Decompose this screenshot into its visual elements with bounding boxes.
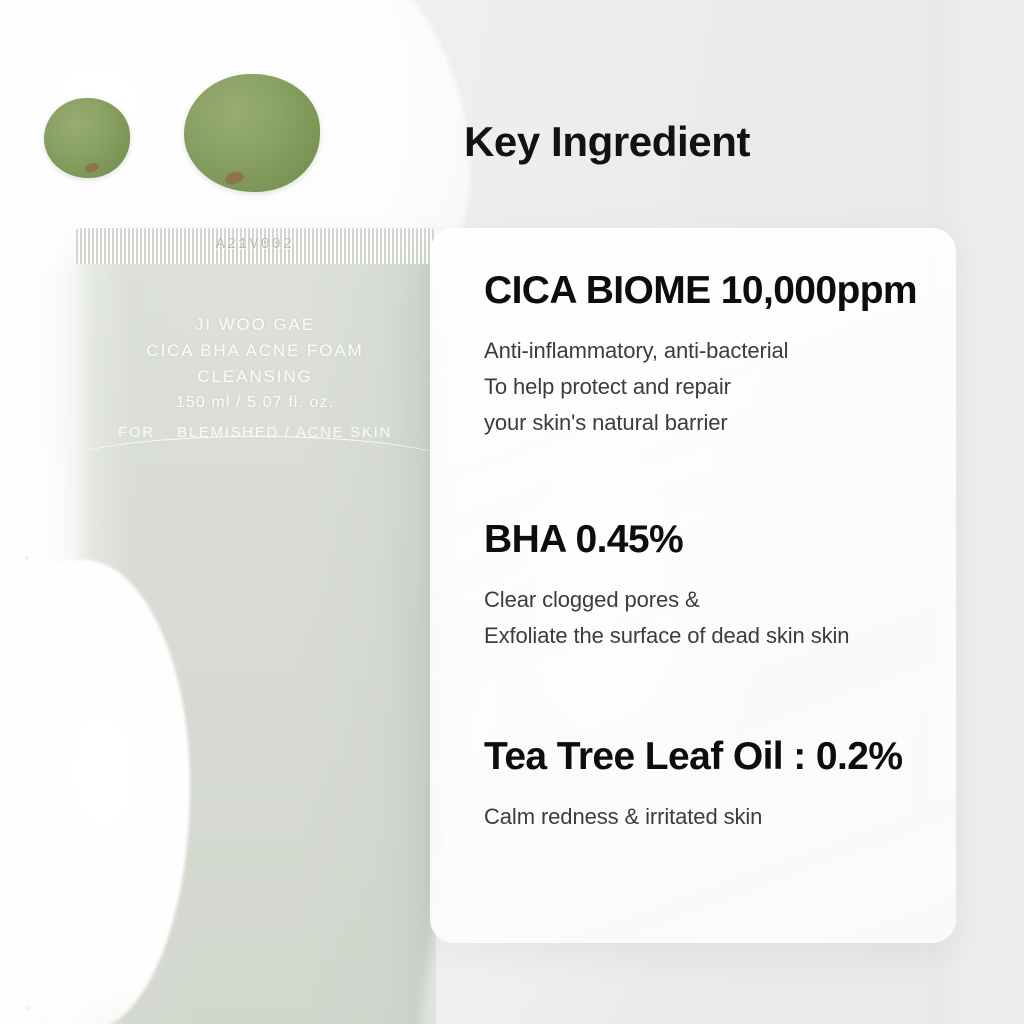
ingredient-title: CICA BIOME 10,000ppm [484, 270, 906, 313]
product-key-ingredient-graphic: A21V002 JI WOO GAE CICA BHA ACNE FOAM CL… [0, 0, 1024, 1024]
ingredient-block-bha: BHA 0.45% Clear clogged pores & Exfoliat… [484, 519, 906, 654]
tube-product-name-line1: CICA BHA ACNE FOAM [74, 338, 436, 364]
tube-for-label: FOR [118, 424, 155, 441]
tube-batch-code: A21V002 [74, 236, 436, 253]
section-spacer [484, 441, 906, 519]
ingredient-description: Calm redness & irritated skin [484, 799, 906, 835]
ingredient-title: BHA 0.45% [484, 519, 906, 562]
page-title: Key Ingredient [0, 118, 1024, 166]
key-ingredient-card-content: CICA BIOME 10,000ppm Anti-inflammatory, … [430, 228, 956, 943]
ingredient-block-cica-biome: CICA BIOME 10,000ppm Anti-inflammatory, … [484, 270, 906, 441]
ingredient-description: Anti-inflammatory, anti-bacterial To hel… [484, 333, 906, 441]
tube-printed-label: JI WOO GAE CICA BHA ACNE FOAM CLEANSING … [74, 312, 436, 416]
ingredient-description-line: your skin's natural barrier [484, 405, 906, 441]
ingredient-block-tea-tree: Tea Tree Leaf Oil : 0.2% Calm redness & … [484, 736, 906, 835]
key-ingredient-card: CICA BIOME 10,000ppm Anti-inflammatory, … [430, 228, 956, 943]
tube-brand: JI WOO GAE [74, 312, 436, 338]
ingredient-description: Clear clogged pores & Exfoliate the surf… [484, 582, 906, 654]
ingredient-title: Tea Tree Leaf Oil : 0.2% [484, 736, 906, 779]
ingredient-description-line: Calm redness & irritated skin [484, 799, 906, 835]
ingredient-description-line: Anti-inflammatory, anti-bacterial [484, 333, 906, 369]
tube-volume: 150 ml / 5.07 fl. oz. [74, 390, 436, 416]
ingredient-description-line: To help protect and repair [484, 369, 906, 405]
section-spacer [484, 654, 906, 736]
ingredient-description-line: Exfoliate the surface of dead skin skin [484, 618, 906, 654]
tube-product-name-line2: CLEANSING [74, 364, 436, 390]
tube-skin-type: BLEMISHED / ACNE SKIN [177, 424, 392, 441]
ingredient-description-line: Clear clogged pores & [484, 582, 906, 618]
tube-skin-type-row: FOR BLEMISHED / ACNE SKIN [74, 424, 436, 441]
